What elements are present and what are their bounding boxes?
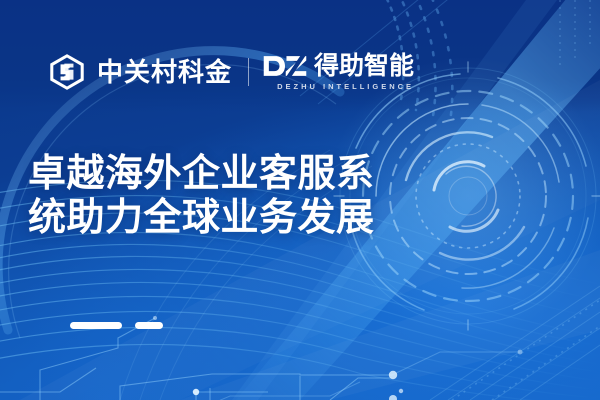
promo-banner: 中关村科金 得助智能 DEZHU INTELLIGENCE 卓越海外企业客服系 … [0, 0, 600, 400]
logo-row: 中关村科金 得助智能 DEZHU INTELLIGENCE [48, 48, 414, 96]
dz-monogram-icon [263, 53, 307, 79]
dash-short [135, 322, 163, 329]
dz-logo-line: 得助智能 [263, 53, 414, 79]
page-title: 卓越海外企业客服系 统助力全球业务发展 [28, 152, 423, 240]
cube-hexagon-icon [48, 53, 86, 91]
logo-divider [248, 58, 249, 86]
dz-logo: 得助智能 DEZHU INTELLIGENCE [263, 53, 414, 91]
zgc-logo-text: 中关村科金 [97, 59, 232, 85]
dz-logo-text: 得助智能 [314, 54, 414, 79]
decorative-dashes [70, 322, 163, 329]
page-title-line-1: 卓越海外企业客服系 [28, 152, 423, 196]
dz-logo-subtitle: DEZHU INTELLIGENCE [263, 83, 414, 91]
page-title-line-2: 统助力全球业务发展 [28, 196, 423, 240]
dash-long [70, 322, 122, 329]
